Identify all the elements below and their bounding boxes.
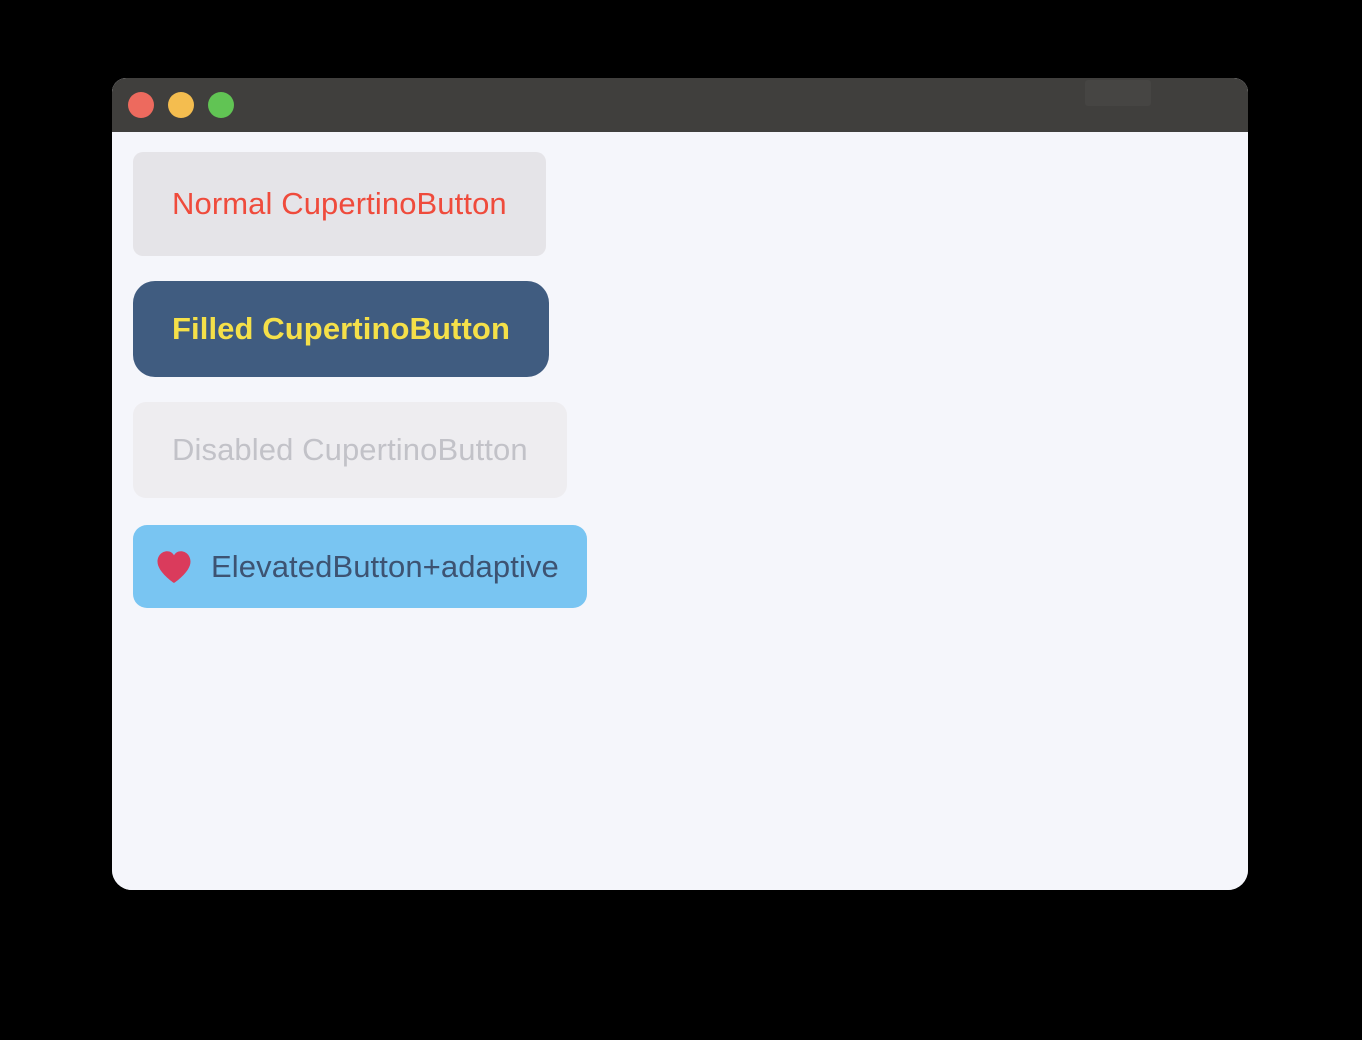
screen-root: Normal CupertinoButton Filled CupertinoB…	[0, 0, 1362, 1040]
window-titlebar[interactable]	[112, 78, 1248, 132]
disabled-cupertino-button: Disabled CupertinoButton	[133, 402, 567, 498]
normal-button-row: Normal CupertinoButton	[133, 152, 1248, 281]
disabled-button-row: Disabled CupertinoButton	[133, 402, 1248, 525]
titlebar-inactive-region	[1085, 80, 1151, 106]
app-window: Normal CupertinoButton Filled CupertinoB…	[112, 78, 1248, 890]
elevated-button-row: ElevatedButton+adaptive	[133, 525, 1248, 608]
filled-cupertino-button-label: Filled CupertinoButton	[172, 311, 510, 347]
heart-icon	[156, 550, 192, 584]
maximize-window-icon[interactable]	[208, 92, 234, 118]
filled-cupertino-button[interactable]: Filled CupertinoButton	[133, 281, 549, 377]
disabled-cupertino-button-label: Disabled CupertinoButton	[172, 432, 528, 468]
close-window-icon[interactable]	[128, 92, 154, 118]
elevated-button-adaptive-label: ElevatedButton+adaptive	[211, 549, 559, 585]
app-content: Normal CupertinoButton Filled CupertinoB…	[112, 132, 1248, 890]
filled-button-row: Filled CupertinoButton	[133, 281, 1248, 402]
elevated-button-adaptive[interactable]: ElevatedButton+adaptive	[133, 525, 587, 608]
minimize-window-icon[interactable]	[168, 92, 194, 118]
normal-cupertino-button[interactable]: Normal CupertinoButton	[133, 152, 546, 256]
traffic-light-group	[128, 92, 234, 118]
normal-cupertino-button-label: Normal CupertinoButton	[172, 186, 507, 222]
